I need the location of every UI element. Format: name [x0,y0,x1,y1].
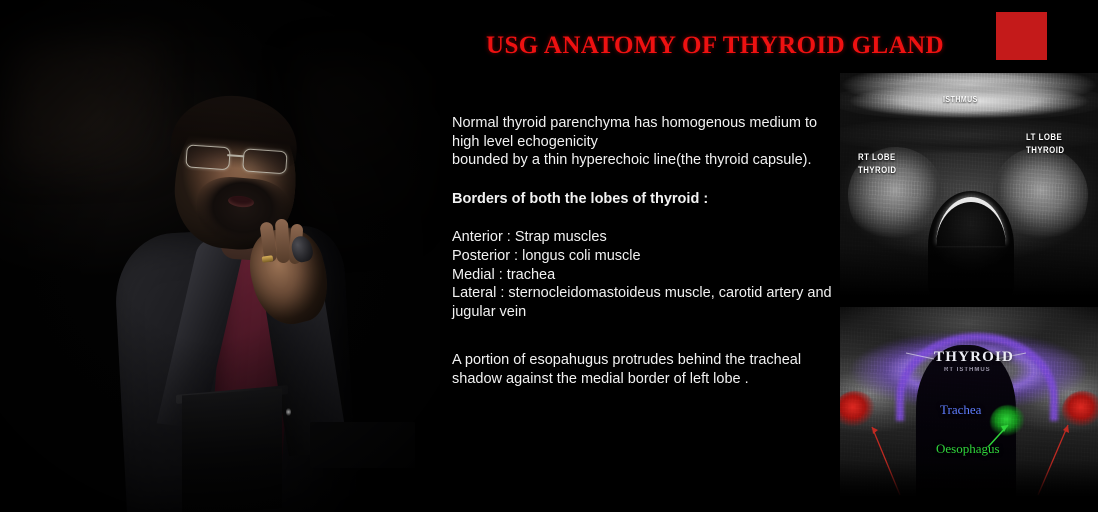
ultrasound-image-panel: ISTHMUS RT LOBE THYROID LT LOBE THYROID [840,70,1098,512]
border-item-posterior: Posterior : longus coli muscle [452,247,844,266]
podium [182,389,282,512]
light-glint [286,408,291,416]
borders-list: Anterior : Strap muscles Posterior : lon… [452,228,844,321]
eyeglass-lens-left [185,144,230,170]
heading-borders: Borders of both the lobes of thyroid : [452,190,844,209]
label-isthmus: ISTHMUS [943,93,978,106]
spacer [452,321,844,351]
border-item-lateral-cont: jugular vein [452,303,844,322]
slide-title: USG ANATOMY OF THYROID GLAND [455,32,975,60]
paragraph-line: bounded by a thin hyperechoic line(the t… [452,151,844,170]
oesophagus-overlay [990,405,1026,439]
border-item-medial: Medial : trachea [452,266,844,285]
ultrasound-transverse-annotated: THYROID RT ISTHMUS Trachea Oesophagus Co… [840,307,1098,512]
paragraph-line: high level echogenicity [452,133,844,152]
red-accent-square [996,12,1047,60]
paragraph-line: A portion of esopahugus protrudes behind… [452,351,844,370]
paragraph-line: shadow against the medial border of left… [452,370,844,389]
slide-body-text: Normal thyroid parenchyma has homogenous… [452,114,844,389]
stage-desk [310,422,415,468]
presenter-video-region [0,0,440,512]
border-item-lateral: Lateral : sternocleidomastoideus muscle,… [452,284,844,303]
paragraph-esophagus: A portion of esopahugus protrudes behind… [452,351,844,388]
label-trachea: Trachea [940,402,981,418]
label-lt-lobe-thyroid: LT LOBE THYROID [1026,131,1065,157]
presenter-finger [275,219,290,264]
label-thyroid-sublabel: RT ISTHMUS [944,367,991,373]
paragraph-echogenicity: Normal thyroid parenchyma has homogenous… [452,114,844,170]
carotid-artery-right-overlay [1062,391,1098,431]
presentation-slide: USG ANATOMY OF THYROID GLAND Normal thyr… [0,0,1098,512]
label-rt-lobe-thyroid: RT LOBE THYROID [858,151,897,177]
eyeglass-lens-right [242,148,287,174]
ultrasound-acoustic-shadow [840,245,1098,305]
paragraph-line: Normal thyroid parenchyma has homogenous… [452,114,844,133]
ultrasound-lower-fade [840,460,1098,512]
ultrasound-transverse-grayscale: ISTHMUS RT LOBE THYROID LT LOBE THYROID [840,73,1098,305]
label-oesophagus: Oesophagus [936,441,1000,457]
border-item-anterior: Anterior : Strap muscles [452,228,844,247]
spacer [452,208,844,228]
spacer [452,170,844,190]
label-thyroid: THYROID [934,349,1014,366]
